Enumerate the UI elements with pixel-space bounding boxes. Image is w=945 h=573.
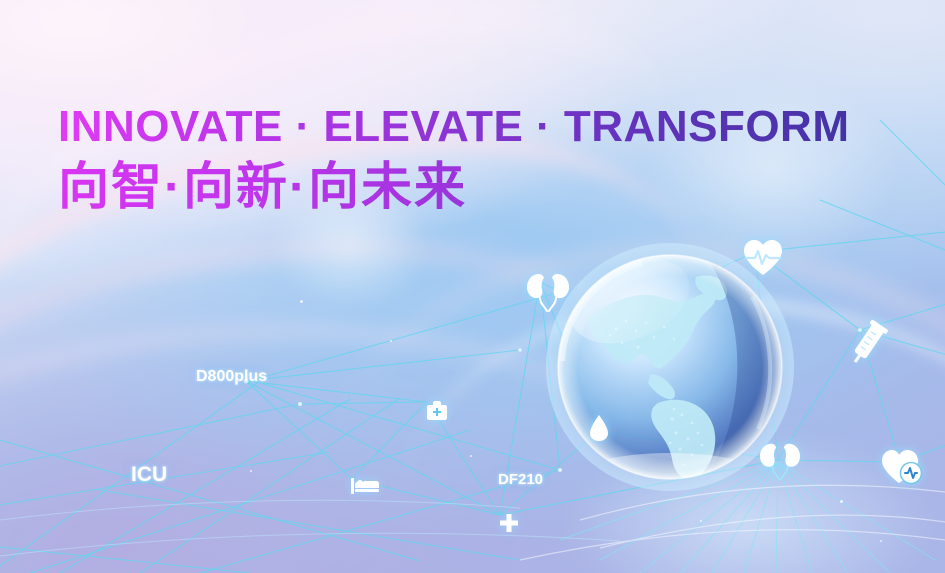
- speck: [300, 300, 303, 303]
- label-df210: DF210: [498, 471, 543, 488]
- kidneys-icon: [525, 270, 571, 312]
- medical-cross-icon: [499, 513, 519, 533]
- headline-block: INNOVATE · ELEVATE · TRANSFORM 向智·向新·向未来: [58, 103, 850, 215]
- medical-bag-icon: [426, 400, 448, 422]
- speck: [250, 470, 252, 472]
- hospital-bed-icon: [350, 476, 380, 496]
- headline-english: INNOVATE · ELEVATE · TRANSFORM: [58, 103, 850, 151]
- speck: [470, 455, 472, 457]
- water-drop-icon: [588, 414, 610, 442]
- speck: [390, 340, 392, 342]
- earth-globe: [546, 243, 794, 491]
- speck: [880, 540, 882, 542]
- heart-pulse-icon: [742, 238, 784, 276]
- kidneys-icon: [758, 440, 802, 480]
- heart-ecg-icon: [880, 448, 924, 486]
- network-lines: [0, 0, 945, 573]
- speck: [840, 500, 843, 503]
- speck: [700, 520, 702, 522]
- syringe-icon: [848, 318, 888, 368]
- label-d800plus: D800plus: [196, 368, 267, 386]
- label-icu: ICU: [131, 463, 167, 487]
- hero-banner: INNOVATE · ELEVATE · TRANSFORM 向智·向新·向未来: [0, 0, 945, 573]
- headline-chinese: 向智·向新·向未来: [58, 159, 850, 215]
